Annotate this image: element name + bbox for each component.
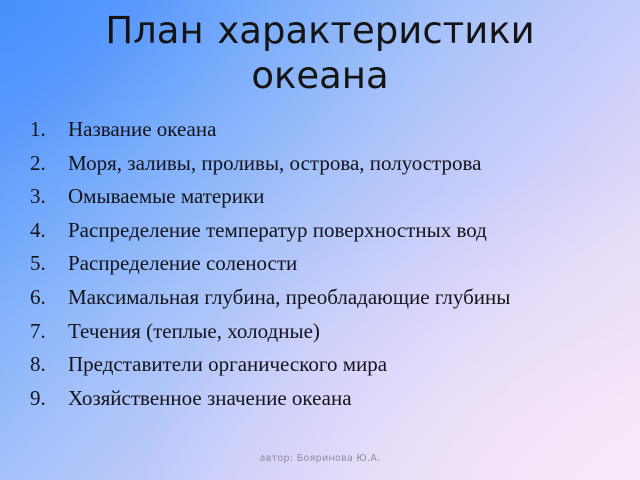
list-item-number: 6. <box>30 281 60 315</box>
list-item-label: Течения (теплые, холодные) <box>68 315 320 349</box>
plan-list: 1. Название океана 2. Моря, заливы, прол… <box>30 113 620 415</box>
list-item-label: Представители органического мира <box>68 348 387 382</box>
list-item: 3. Омываемые материки <box>30 180 620 214</box>
page-title: План характеристики океана <box>46 8 594 98</box>
list-item-number: 2. <box>30 147 60 181</box>
list-item-number: 8. <box>30 348 60 382</box>
list-item: 1. Название океана <box>30 113 620 147</box>
slide-canvas: План характеристики океана 1. Название о… <box>0 0 640 480</box>
list-item-number: 3. <box>30 180 60 214</box>
list-item-number: 4. <box>30 214 60 248</box>
list-item: 6. Максимальная глубина, преобладающие г… <box>30 281 620 315</box>
list-item-label: Максимальная глубина, преобладающие глуб… <box>68 281 510 315</box>
list-item: 9. Хозяйственное значение океана <box>30 382 620 416</box>
list-item-number: 9. <box>30 382 60 416</box>
list-item: 4. Распределение температур поверхностны… <box>30 214 620 248</box>
list-item-label: Распределение температур поверхностных в… <box>68 214 487 248</box>
list-item-number: 5. <box>30 247 60 281</box>
list-item: 5. Распределение солености <box>30 247 620 281</box>
list-item: 8. Представители органического мира <box>30 348 620 382</box>
list-item-label: Название океана <box>68 113 216 147</box>
list-item-label: Омываемые материки <box>68 180 264 214</box>
list-item-label: Моря, заливы, проливы, острова, полуостр… <box>68 147 481 181</box>
author-credit: автор: Бояринова Ю.А. <box>0 452 640 465</box>
list-item-number: 7. <box>30 315 60 349</box>
list-item: 2. Моря, заливы, проливы, острова, полуо… <box>30 147 620 181</box>
list-item-label: Хозяйственное значение океана <box>68 382 352 416</box>
list-item-number: 1. <box>30 113 60 147</box>
list-item: 7. Течения (теплые, холодные) <box>30 315 620 349</box>
list-item-label: Распределение солености <box>68 247 297 281</box>
slide-content: План характеристики океана 1. Название о… <box>0 0 640 480</box>
